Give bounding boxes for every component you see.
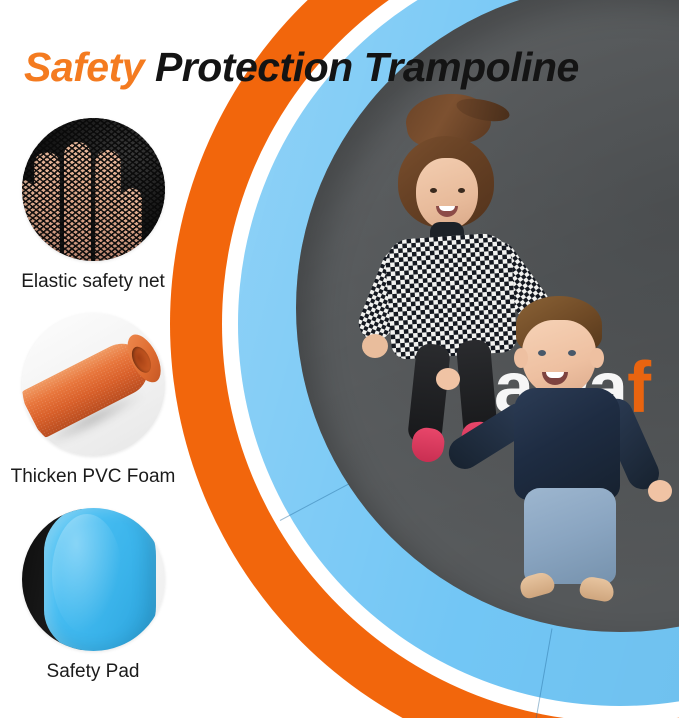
pad-fabric-sheen (52, 514, 122, 634)
feature-label: Safety Pad (0, 660, 186, 683)
feature-thicken-pvc-foam: Thicken PVC Foam (0, 313, 186, 488)
safety-net-thumbnail (22, 118, 165, 261)
net-vignette (22, 118, 165, 261)
boy-eye-right (568, 350, 576, 356)
boy-navy-shirt (514, 388, 620, 500)
safety-pad-thumbnail (22, 508, 165, 651)
boy-face (522, 320, 596, 396)
boy-hand-left (436, 368, 460, 390)
girl-eye-right (458, 188, 465, 193)
feature-elastic-safety-net: Elastic safety net (0, 118, 186, 293)
girl-eye-left (430, 188, 437, 193)
feature-safety-pad: Safety Pad (0, 508, 186, 683)
page-title: Safety Protection Trampoline (24, 44, 579, 90)
girl-face (416, 158, 478, 230)
boy-ear-right (590, 348, 604, 368)
boy-jeans (524, 488, 616, 584)
feature-label: Thicken PVC Foam (0, 465, 186, 488)
boy-eye-left (538, 350, 546, 356)
child-boy (480, 296, 679, 616)
title-accent-word: Safety (24, 44, 144, 90)
boy-hand-right (648, 480, 672, 502)
boy-ear-left (514, 348, 528, 368)
girl-hand-left (362, 334, 388, 358)
children-on-trampoline (360, 96, 679, 616)
product-marketing-image: awaf (0, 0, 679, 718)
feature-label: Elastic safety net (0, 270, 186, 293)
pvc-foam-thumbnail (22, 313, 165, 456)
title-rest: Protection Trampoline (144, 44, 579, 90)
